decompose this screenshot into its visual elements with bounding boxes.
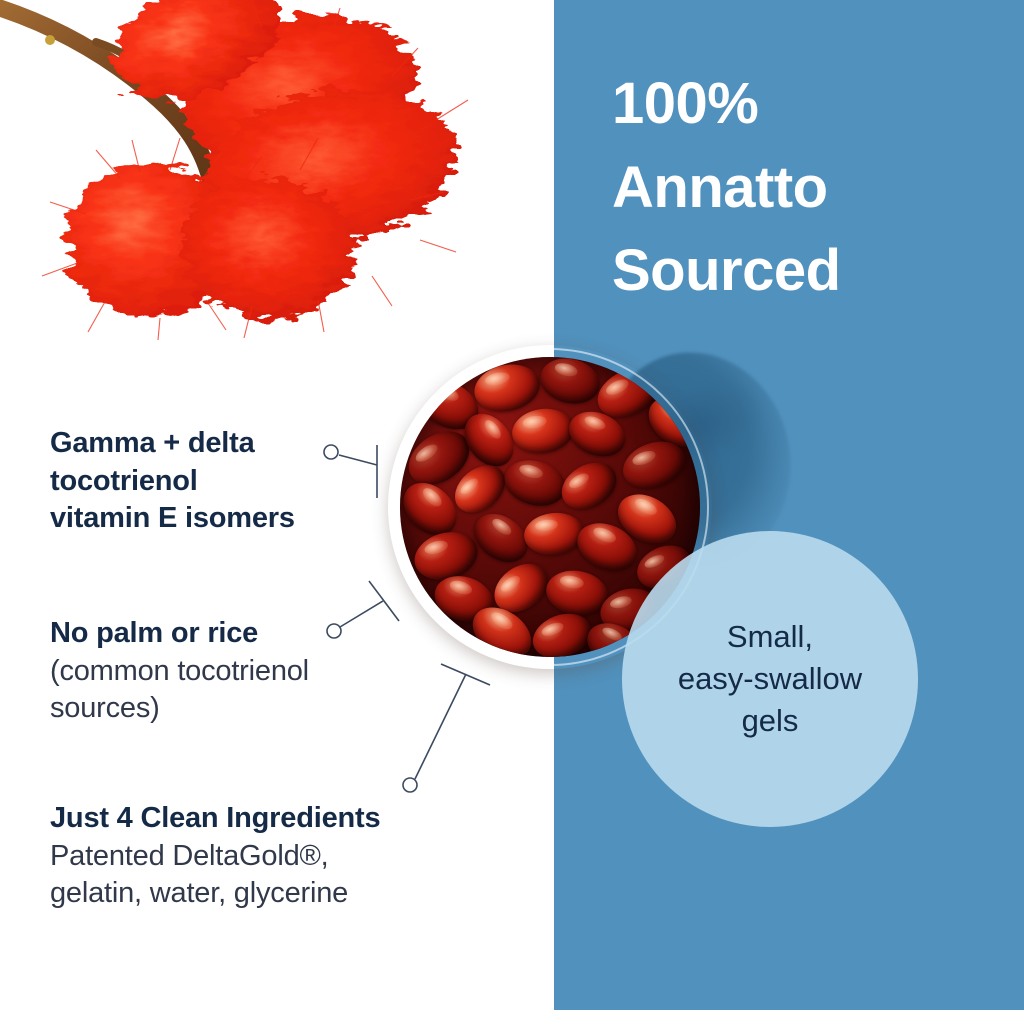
circle-callout-line-2: easy-swallow [678,658,862,700]
small-easy-swallow-callout-circle: Small, easy-swallow gels [622,531,918,827]
circle-callout-line-1: Small, [678,616,862,658]
feature-3-heading-line-1: Just 4 Clean Ingredients [50,800,520,838]
circle-callout-line-3: gels [678,700,862,742]
feature-1-heading-line-1: Gamma + delta [50,425,390,463]
feature-just-4-clean-ingredients: Just 4 Clean Ingredients Patented DeltaG… [50,800,520,913]
feature-2-sub-line-1: (common tocotrienol [50,653,400,691]
feature-3-sub-line-2: gelatin, water, glycerine [50,875,520,913]
feature-1-heading-line-3: vitamin E isomers [50,500,390,538]
headline-line-1: 100% [612,62,1012,146]
headline-line-3: Sourced [612,229,1012,313]
feature-3-sub-line-1: Patented DeltaGold®, [50,838,520,876]
feature-no-palm-or-rice: No palm or rice (common tocotrienol sour… [50,615,400,728]
leader-dot-3 [403,778,417,792]
feature-gamma-delta-tocotrienol: Gamma + delta tocotrienol vitamin E isom… [50,425,390,538]
infographic-canvas: 100% Annatto Sourced [0,0,1024,1024]
headline: 100% Annatto Sourced [612,62,1012,313]
feature-2-heading-line-1: No palm or rice [50,615,400,653]
leader-line-3 [415,674,466,779]
feature-2-sub-line-2: sources) [50,690,400,728]
feature-1-heading-line-2: tocotrienol [50,463,390,501]
annatto-seed-pods-image [0,0,490,340]
headline-line-2: Annatto [612,146,1012,230]
